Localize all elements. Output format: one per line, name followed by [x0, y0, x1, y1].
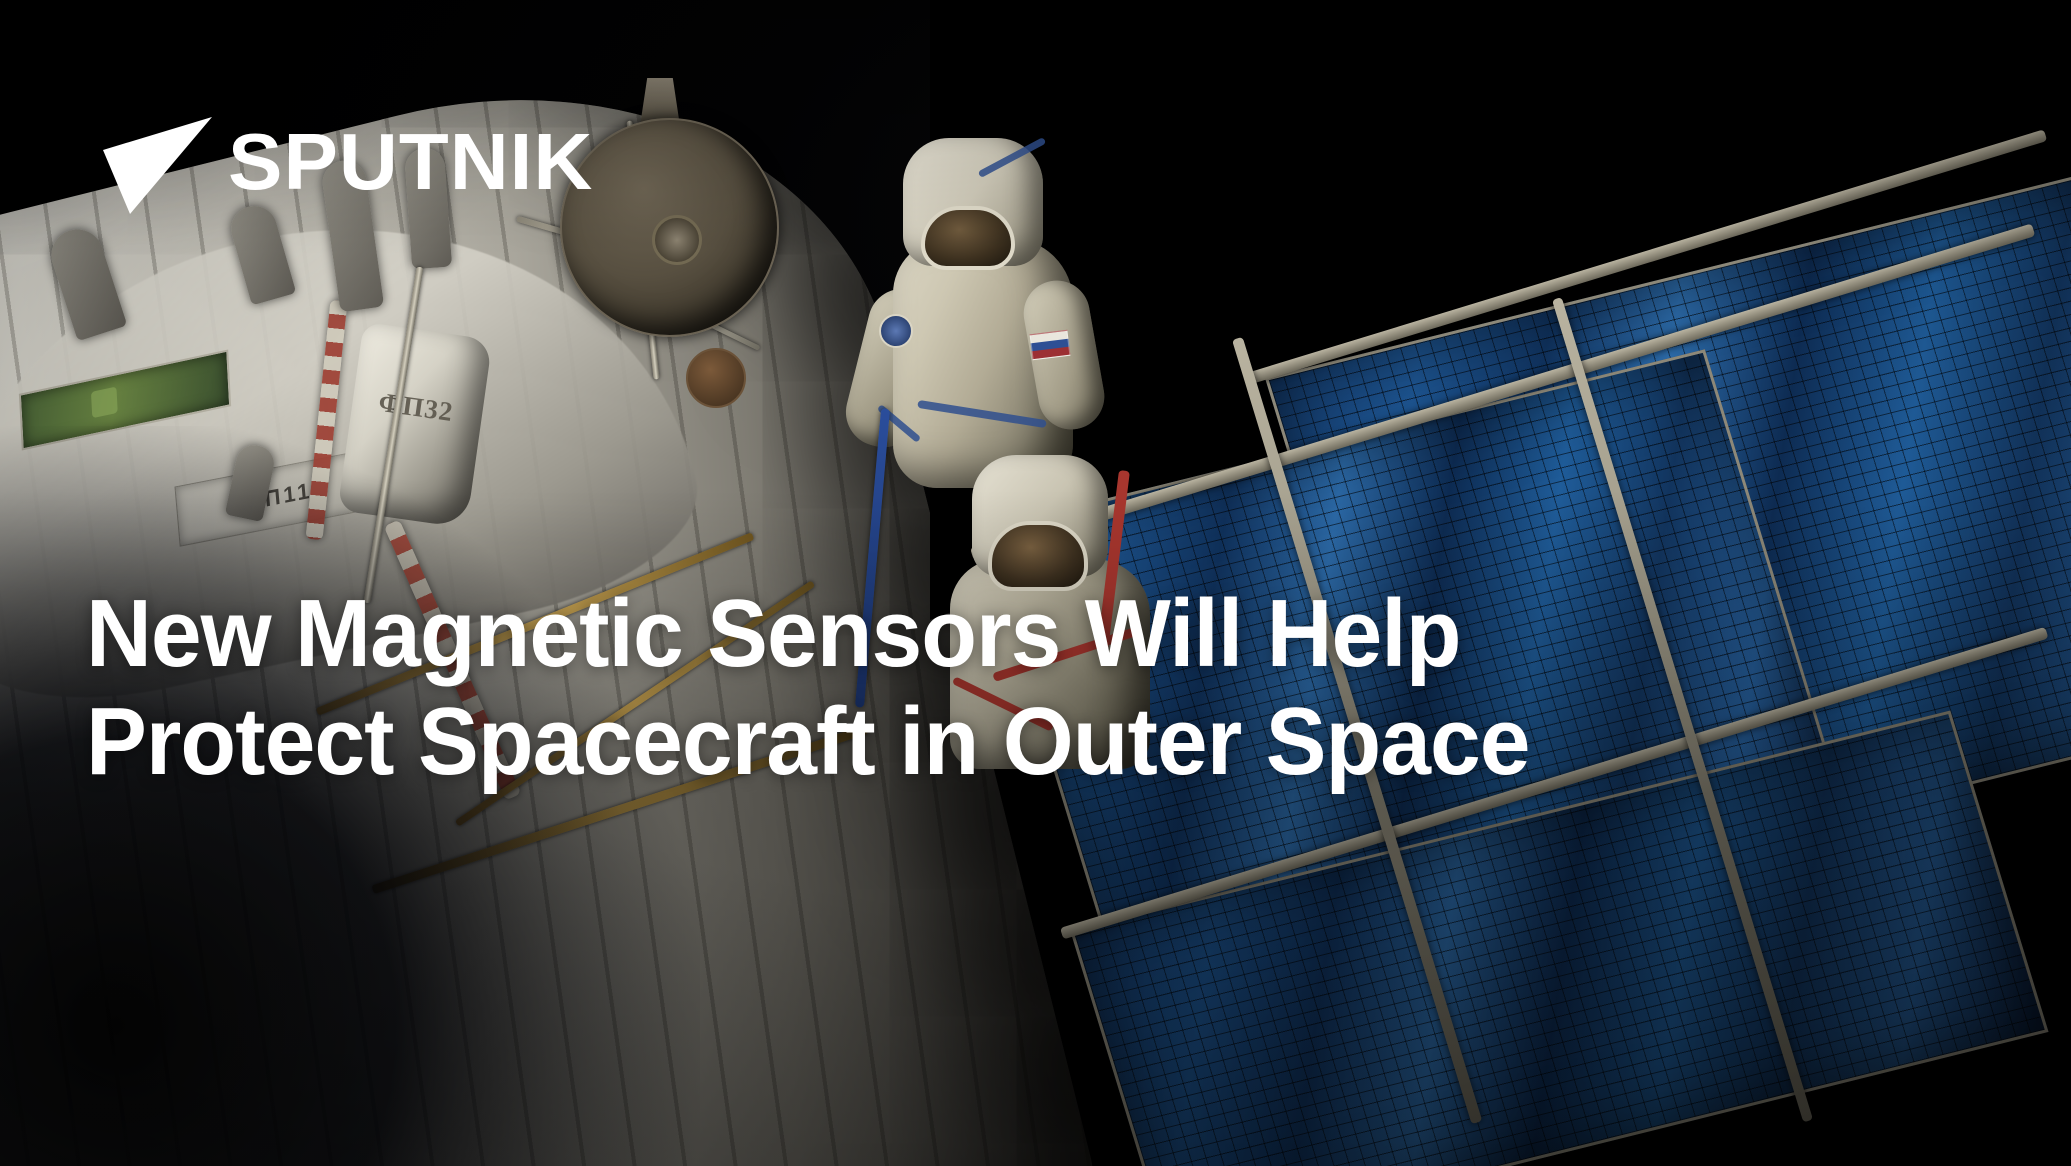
sputnik-arrow-mark — [100, 104, 212, 220]
headline-line-2: Protect Spacecraft in Outer Space — [86, 688, 1920, 796]
sputnik-article-card: П11 ФП32 — [0, 0, 2071, 1166]
sputnik-logo[interactable]: SPUTNIK — [100, 104, 586, 220]
headline-line-1: New Magnetic Sensors Will Help — [86, 580, 1920, 688]
sputnik-wordmark: SPUTNIK — [228, 122, 593, 202]
article-headline: New Magnetic Sensors Will Help Protect S… — [86, 580, 2016, 795]
